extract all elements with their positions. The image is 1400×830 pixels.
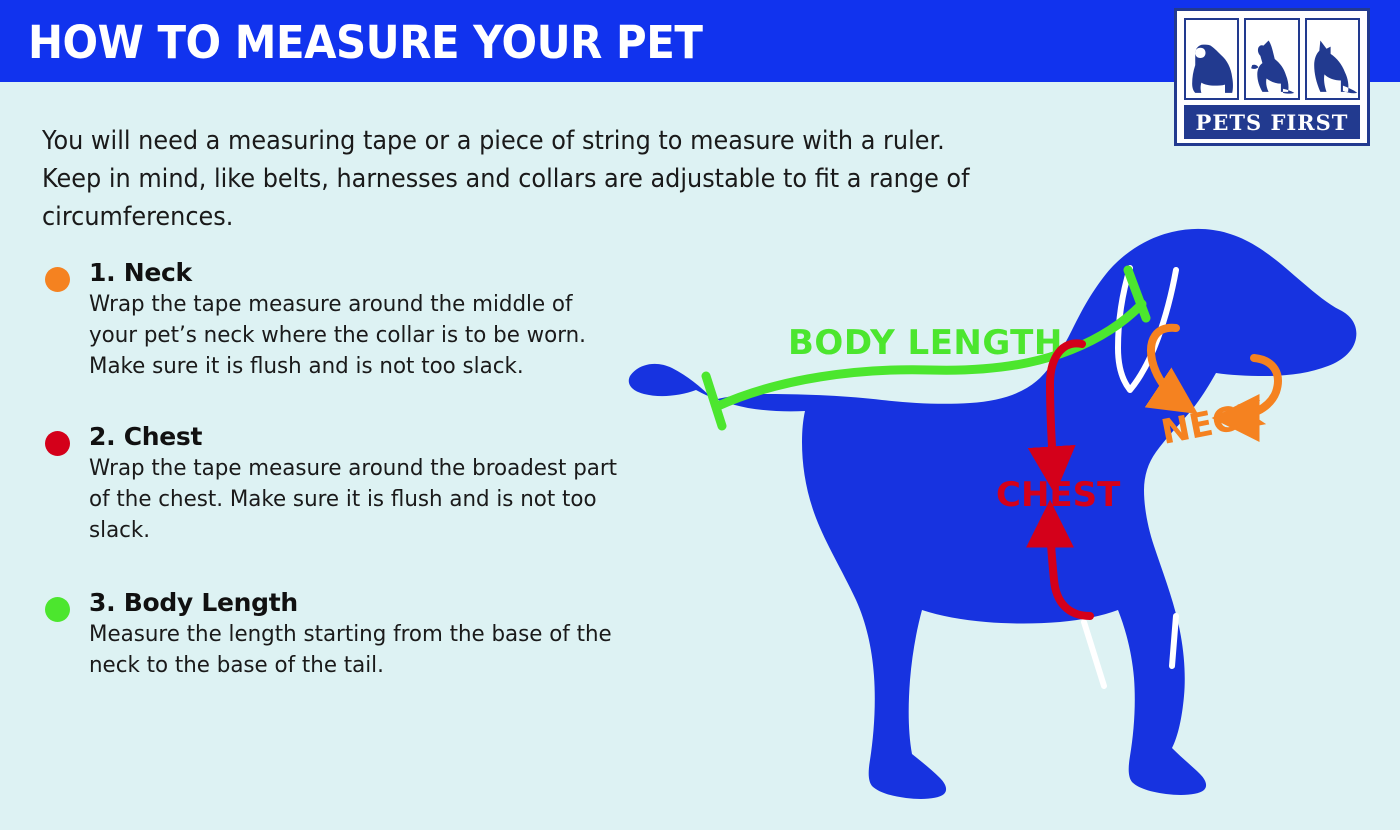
step-description-body-length: Measure the length starting from the bas… xyxy=(89,619,621,681)
dog-silhouette xyxy=(629,229,1357,799)
step-description-neck: Wrap the tape measure around the middle … xyxy=(89,289,621,382)
step-item-neck: 1. Neck Wrap the tape measure around the… xyxy=(42,258,642,382)
bullet-chest-icon xyxy=(45,431,70,456)
step-title-body-length: 3. Body Length xyxy=(89,588,642,617)
logo-panel-row xyxy=(1184,18,1360,100)
label-chest: CHEST xyxy=(996,475,1121,515)
bullet-neck-icon xyxy=(45,267,70,292)
step-description-chest: Wrap the tape measure around the broades… xyxy=(89,453,621,546)
step-title-neck: 1. Neck xyxy=(89,258,642,287)
brand-logo: PETS FIRST xyxy=(1174,8,1370,146)
step-title-chest: 2. Chest xyxy=(89,422,642,451)
intro-line-1: You will need a measuring tape or a piec… xyxy=(42,122,1085,160)
label-body-length: BODY LENGTH xyxy=(788,323,1063,363)
step-item-chest: 2. Chest Wrap the tape measure around th… xyxy=(42,422,642,546)
measurement-steps-list: 1. Neck Wrap the tape measure around the… xyxy=(42,258,642,715)
step-item-body-length: 3. Body Length Measure the length starti… xyxy=(42,588,642,681)
page-title: HOW TO MEASURE YOUR PET xyxy=(28,16,702,69)
sitting-dog-silhouette-icon xyxy=(1184,18,1239,100)
shepherd-dog-silhouette-icon xyxy=(1305,18,1360,100)
front-leg-crease xyxy=(1084,622,1104,686)
dog-measurement-diagram: BODY LENGTH NECK CHEST xyxy=(610,218,1400,830)
hind-leg-crease xyxy=(1172,616,1176,666)
bullet-body-length-icon xyxy=(45,597,70,622)
logo-wordmark: PETS FIRST xyxy=(1184,105,1360,139)
howling-dog-silhouette-icon xyxy=(1244,18,1299,100)
